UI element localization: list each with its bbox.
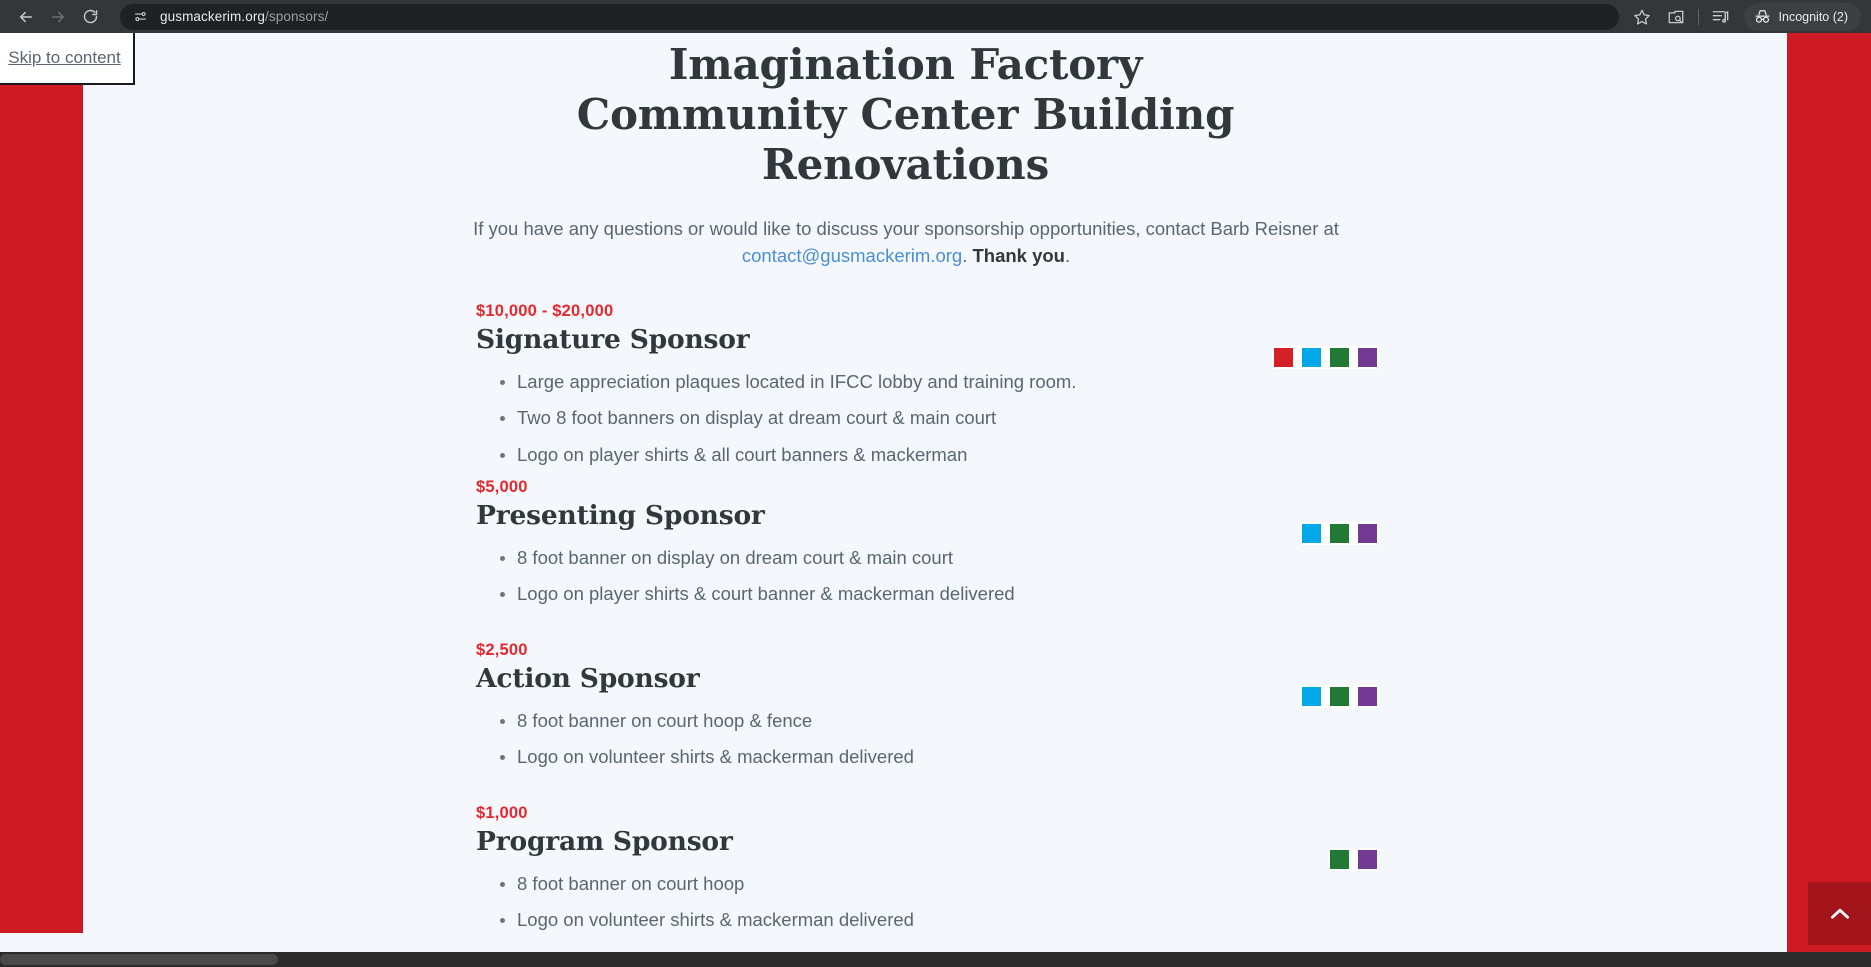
color-swatch — [1358, 687, 1377, 706]
color-swatch — [1330, 348, 1349, 367]
intro-text-before: If you have any questions or would like … — [473, 218, 1339, 239]
skip-to-content-link[interactable]: Skip to content — [0, 33, 135, 85]
tier-benefit-list: 8 foot banner on court hoop & fenceLogo … — [476, 708, 1787, 771]
tier-price: $10,000 - $20,000 — [476, 302, 1787, 321]
site-settings-icon[interactable] — [130, 7, 150, 27]
intro-text-end: . — [1065, 245, 1070, 266]
tier-color-swatches — [1272, 346, 1379, 369]
tier-benefit-item: 8 foot banner on court hoop & fence — [517, 708, 1787, 734]
reading-list-button[interactable] — [1704, 3, 1738, 31]
page-content: Imagination Factory Community Center Bui… — [83, 33, 1787, 967]
color-swatch — [1330, 524, 1349, 543]
page-title: Imagination Factory Community Center Bui… — [341, 33, 1470, 190]
color-swatch — [1302, 348, 1321, 367]
color-swatch — [1274, 348, 1293, 367]
tier-price: $5,000 — [476, 478, 1787, 497]
intro-thank-you: Thank you — [972, 245, 1065, 266]
color-swatch — [1330, 850, 1349, 869]
url-text: gusmackerim.org/sponsors/ — [160, 9, 328, 24]
url-domain: gusmackerim.org — [160, 9, 265, 24]
tier-color-swatches — [1300, 685, 1379, 708]
sponsor-tier: $2,500Action Sponsor8 foot banner on cou… — [83, 641, 1787, 804]
page-title-line-1: Imagination Factory — [669, 40, 1142, 89]
back-button[interactable] — [10, 3, 42, 31]
address-bar[interactable]: gusmackerim.org/sponsors/ — [120, 4, 1619, 30]
tier-benefit-item: 8 foot banner on display on dream court … — [517, 545, 1787, 571]
color-swatch — [1302, 687, 1321, 706]
forward-arrow-icon — [49, 8, 67, 26]
intro-paragraph: If you have any questions or would like … — [466, 215, 1346, 269]
back-arrow-icon — [17, 8, 35, 26]
tune-icon — [133, 9, 148, 24]
tier-benefit-item: Logo on player shirts & all court banner… — [517, 442, 1787, 468]
browser-toolbar: gusmackerim.org/sponsors/ Incognito ( — [0, 0, 1871, 33]
tier-benefit-item: Logo on volunteer shirts & mackerman del… — [517, 907, 1787, 933]
color-swatch — [1302, 524, 1321, 543]
contact-email-link[interactable]: contact@gusmackerim.org — [742, 245, 962, 266]
sponsor-tier-list: $10,000 - $20,000Signature SponsorLarge … — [83, 302, 1787, 967]
tier-benefit-item: Logo on volunteer shirts & mackerman del… — [517, 744, 1787, 770]
color-swatch — [1358, 348, 1377, 367]
left-red-rail — [0, 33, 83, 933]
tier-name: Action Sponsor — [476, 662, 1787, 695]
sponsor-tier: $10,000 - $20,000Signature SponsorLarge … — [83, 302, 1787, 468]
tier-benefit-item: Logo on player shirts & court banner & m… — [517, 581, 1787, 607]
tier-benefit-list: Large appreciation plaques located in IF… — [476, 369, 1787, 468]
tab-search-button[interactable] — [1659, 3, 1693, 31]
bookmark-button[interactable] — [1625, 3, 1659, 31]
sponsor-tier: $1,000Program Sponsor8 foot banner on co… — [83, 804, 1787, 967]
tier-price: $2,500 — [476, 641, 1787, 660]
reload-icon — [82, 8, 99, 25]
url-path: /sponsors/ — [265, 9, 328, 24]
tier-benefit-item: 8 foot banner on court hoop — [517, 871, 1787, 897]
incognito-hat-icon — [1753, 7, 1772, 26]
intro-text-after: . — [962, 245, 972, 266]
tier-benefit-list: 8 foot banner on court hoopLogo on volun… — [476, 871, 1787, 934]
color-swatch — [1330, 687, 1349, 706]
forward-button[interactable] — [42, 3, 74, 31]
horizontal-scrollbar[interactable] — [0, 952, 1871, 967]
sponsor-tier: $5,000Presenting Sponsor8 foot banner on… — [83, 478, 1787, 641]
scroll-to-top-button[interactable] — [1808, 882, 1871, 945]
toolbar-divider — [1698, 9, 1699, 25]
tier-color-swatches — [1328, 848, 1379, 871]
color-swatch — [1358, 850, 1377, 869]
right-red-rail — [1787, 33, 1871, 967]
tier-benefit-item: Two 8 foot banners on display at dream c… — [517, 405, 1787, 431]
tier-name: Program Sponsor — [476, 825, 1787, 858]
chevron-up-icon — [1827, 901, 1853, 927]
tier-color-swatches — [1300, 522, 1379, 545]
incognito-indicator[interactable]: Incognito (2) — [1744, 3, 1861, 31]
toolbar-actions: Incognito (2) — [1625, 3, 1861, 31]
tier-benefit-item: Large appreciation plaques located in IF… — [517, 369, 1787, 395]
tier-name: Signature Sponsor — [476, 323, 1787, 356]
page-title-line-2: Community Center Building — [577, 90, 1235, 139]
page-title-line-3: Renovations — [762, 140, 1049, 189]
tier-name: Presenting Sponsor — [476, 499, 1787, 532]
tier-benefit-list: 8 foot banner on display on dream court … — [476, 545, 1787, 608]
star-icon — [1633, 8, 1651, 26]
scrollbar-thumb[interactable] — [0, 954, 278, 965]
color-swatch — [1358, 524, 1377, 543]
web-page: Skip to content Imagination Factory Comm… — [0, 33, 1871, 967]
tier-price: $1,000 — [476, 804, 1787, 823]
tab-search-icon — [1667, 8, 1685, 26]
reading-list-icon — [1711, 7, 1730, 26]
reload-button[interactable] — [74, 3, 106, 31]
incognito-label: Incognito (2) — [1779, 10, 1848, 24]
